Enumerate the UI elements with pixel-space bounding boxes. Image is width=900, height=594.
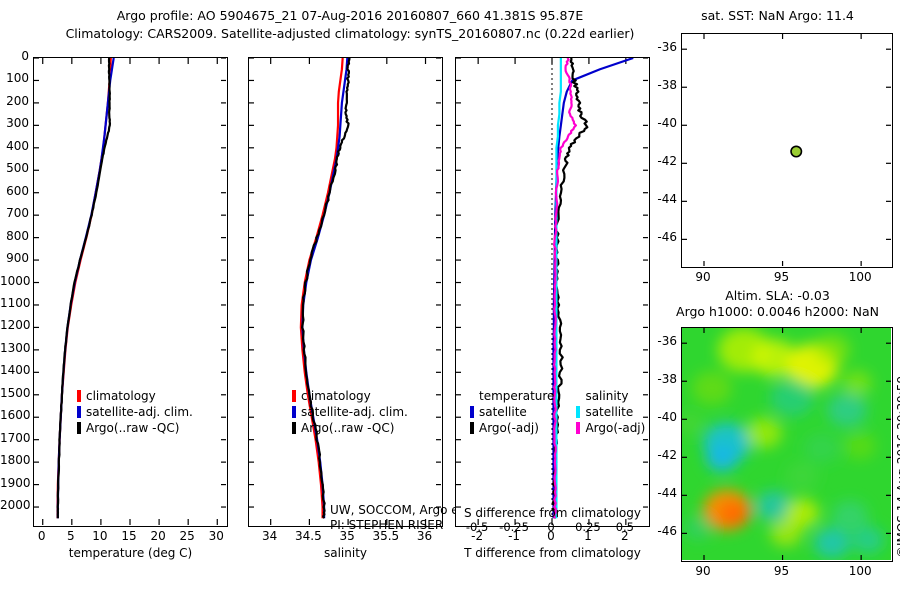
legend-swatch xyxy=(470,422,474,434)
altimetry-title-line1: Altim. SLA: -0.03 xyxy=(665,288,890,303)
legend-group-header: temperature xyxy=(470,388,554,404)
difference-curves xyxy=(553,58,634,518)
legend-item-2: Argo(..raw -QC) xyxy=(292,420,408,436)
difference-legend: temperaturesatelliteArgo(-adj)salinitysa… xyxy=(470,388,650,436)
legend-item-0: climatology xyxy=(292,388,408,404)
legend-label: satellite xyxy=(479,405,527,419)
depth-tick-1400: 1400 xyxy=(0,363,29,377)
legend-swatch xyxy=(77,390,81,402)
depth-tick-900: 900 xyxy=(0,251,29,265)
salinity-legend: climatologysatellite-adj. clim.Argo(..ra… xyxy=(292,388,408,436)
depth-tick-600: 600 xyxy=(0,184,29,198)
sla-tick-x-90: 90 xyxy=(683,564,723,578)
sla-tick-y--38: -38 xyxy=(650,372,677,386)
temperature-profile-plot xyxy=(34,58,226,525)
altimetry-heatmap xyxy=(682,328,891,560)
legend-label: Argo(-adj) xyxy=(479,421,539,435)
depth-tick-400: 400 xyxy=(0,139,29,153)
legend-swatch xyxy=(77,406,81,418)
sst-tick-y--36: -36 xyxy=(650,40,677,54)
sst-tick-y--44: -44 xyxy=(650,192,677,206)
legend-swatch xyxy=(292,422,296,434)
salinity-difference-axis-label: S difference from climatology xyxy=(455,506,650,520)
temperature-axis-label: temperature (deg C) xyxy=(33,546,228,560)
sst-map-ytick-labels: -36-38-40-42-44-46 xyxy=(650,0,680,300)
depth-tick-1100: 1100 xyxy=(0,296,29,310)
depth-tick-0: 0 xyxy=(0,49,29,63)
legend-item-1: satellite-adj. clim. xyxy=(292,404,408,420)
legend-item-0: satellite xyxy=(470,404,554,420)
legend-label: Argo(-adj) xyxy=(585,421,645,435)
legend-item-1: Argo(-adj) xyxy=(470,420,554,436)
legend-group-0: temperaturesatelliteArgo(-adj) xyxy=(470,388,554,436)
sla-tick-y--42: -42 xyxy=(650,448,677,462)
legend-item-0: satellite xyxy=(576,404,645,420)
depth-tick-2000: 2000 xyxy=(0,498,29,512)
depth-tick-1500: 1500 xyxy=(0,386,29,400)
sst-tick-y--40: -40 xyxy=(650,116,677,130)
temperature-difference-axis-label: T difference from climatology xyxy=(455,546,650,560)
float-position-marker xyxy=(791,146,801,156)
depth-tick-1200: 1200 xyxy=(0,318,29,332)
depth-tick-300: 300 xyxy=(0,116,29,130)
sst-tick-y--46: -46 xyxy=(650,230,677,244)
difference-profile-panel xyxy=(455,57,650,527)
depth-tick-1700: 1700 xyxy=(0,431,29,445)
legend-swatch xyxy=(470,406,474,418)
salinity-profile-plot xyxy=(249,58,441,525)
legend-item-0: climatology xyxy=(77,388,193,404)
sst-map-xtick-labels: 9095100 xyxy=(650,270,900,288)
legend-label: satellite-adj. clim. xyxy=(86,405,193,419)
salinity-profile-panel xyxy=(248,57,443,527)
tdiff-tick-1: 1 xyxy=(568,529,608,543)
sla-tick-y--36: -36 xyxy=(650,334,677,348)
temperature-curves xyxy=(58,58,114,518)
salinity-axis-label: salinity xyxy=(248,546,443,560)
sla-field xyxy=(682,328,891,560)
altimetry-ytick-labels: -36-38-40-42-44-46 xyxy=(650,294,680,594)
tdiff-tick--1: -1 xyxy=(494,529,534,543)
depth-tick-1000: 1000 xyxy=(0,274,29,288)
legend-label: Argo(..raw -QC) xyxy=(86,421,179,435)
legend-group-header: salinity xyxy=(576,388,645,404)
tdiff-tick-2: 2 xyxy=(605,529,645,543)
depth-tick-200: 200 xyxy=(0,94,29,108)
depth-tick-100: 100 xyxy=(0,71,29,85)
depth-tick-1900: 1900 xyxy=(0,476,29,490)
salinity-curves xyxy=(301,58,350,518)
sst-tick-y--42: -42 xyxy=(650,154,677,168)
legend-label: satellite xyxy=(585,405,633,419)
temperature-axis-ticks xyxy=(34,58,226,525)
sst-map-plot xyxy=(682,34,891,266)
legend-label: climatology xyxy=(86,389,156,403)
depth-tick-500: 500 xyxy=(0,161,29,175)
legend-swatch xyxy=(576,422,580,434)
legend-swatch xyxy=(77,422,81,434)
tdiff-tick-0: 0 xyxy=(531,529,571,543)
temperature-profile-panel xyxy=(33,57,228,527)
sla-tick-y--40: -40 xyxy=(650,410,677,424)
sst-tick-x-95: 95 xyxy=(762,270,802,284)
legend-label: climatology xyxy=(301,389,371,403)
sla-tick-y--44: -44 xyxy=(650,486,677,500)
imos-credit: ©IMOS 14-Aug-2016 20:39:59 xyxy=(895,376,900,558)
salinity-axis-ticks xyxy=(249,58,441,525)
depth-tick-800: 800 xyxy=(0,229,29,243)
depth-tick-1800: 1800 xyxy=(0,453,29,467)
sla-tick-y--46: -46 xyxy=(650,524,677,538)
temperature-legend: climatologysatellite-adj. clim.Argo(..ra… xyxy=(77,388,193,436)
sla-tick-x-100: 100 xyxy=(840,564,880,578)
legend-item-2: Argo(..raw -QC) xyxy=(77,420,193,436)
sst-map-ticks xyxy=(682,34,891,266)
depth-axis-ticklabels: 0100200300400500600700800900100011001200… xyxy=(0,0,33,580)
legend-swatch xyxy=(576,406,580,418)
altimetry-xtick-labels: 9095100 xyxy=(650,564,900,582)
legend-item-1: Argo(-adj) xyxy=(576,420,645,436)
altimetry-title-line2: Argo h1000: 0.0046 h2000: NaN xyxy=(660,304,895,319)
sla-tick-x-95: 95 xyxy=(762,564,802,578)
tdiff-tick--2: -2 xyxy=(457,529,497,543)
depth-tick-1600: 1600 xyxy=(0,408,29,422)
sst-map-title: sat. SST: NaN Argo: 11.4 xyxy=(665,8,890,23)
sst-tick-y--38: -38 xyxy=(650,78,677,92)
depth-tick-1300: 1300 xyxy=(0,341,29,355)
legend-label: satellite-adj. clim. xyxy=(301,405,408,419)
sst-map-panel xyxy=(681,33,893,268)
legend-swatch xyxy=(292,390,296,402)
figure-title-line1: Argo profile: AO 5904675_21 07-Aug-2016 … xyxy=(30,8,670,23)
sst-tick-x-100: 100 xyxy=(840,270,880,284)
legend-label: Argo(..raw -QC) xyxy=(301,421,394,435)
legend-item-1: satellite-adj. clim. xyxy=(77,404,193,420)
legend-swatch xyxy=(292,406,296,418)
legend-group-1: salinitysatelliteArgo(-adj) xyxy=(576,388,645,436)
figure-title-line2: Climatology: CARS2009. Satellite-adjuste… xyxy=(20,26,680,41)
altimetry-map-panel xyxy=(681,327,893,562)
difference-profile-plot xyxy=(456,58,648,525)
sst-tick-x-90: 90 xyxy=(683,270,723,284)
depth-tick-700: 700 xyxy=(0,206,29,220)
